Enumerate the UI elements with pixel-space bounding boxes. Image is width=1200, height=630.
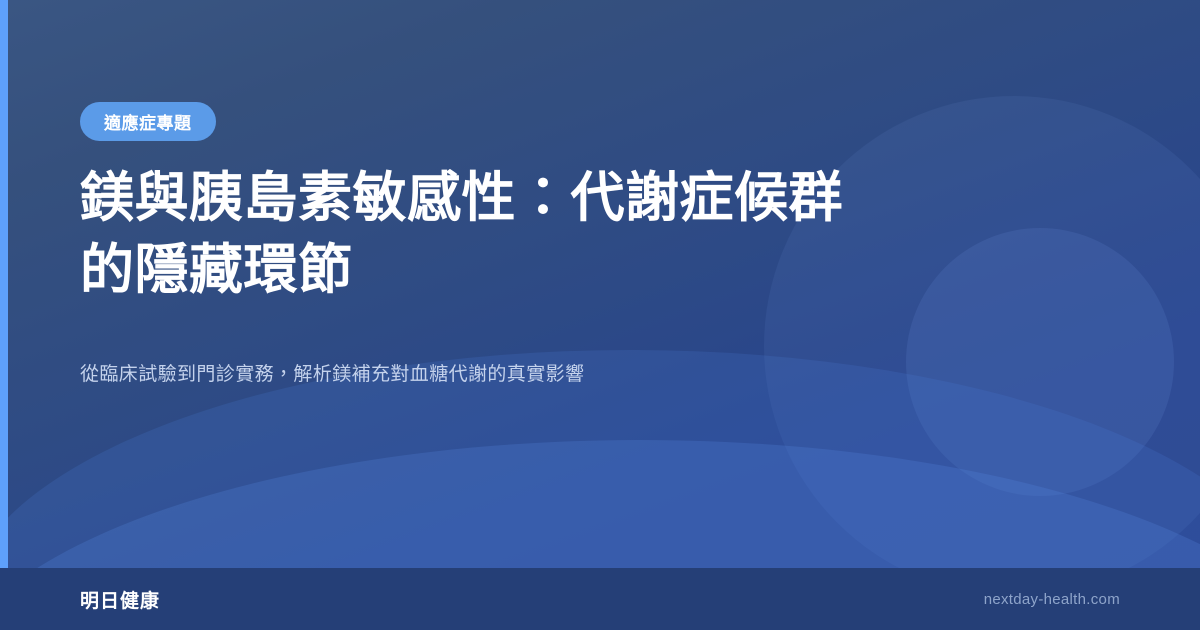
- page-subtitle: 從臨床試驗到門診實務，解析鎂補充對血糖代謝的真實影響: [80, 361, 980, 390]
- card-footer: 明日健康 nextday-health.com: [0, 568, 1200, 630]
- page-title-line-1: 鎂與胰島素敏感性：代謝症候群: [80, 162, 960, 234]
- article-cover-card: 適應症專題 鎂與胰島素敏感性：代謝症候群 的隱藏環節 從臨床試驗到門診實務，解析…: [0, 0, 1200, 630]
- page-title-line-2: 的隱藏環節: [80, 234, 960, 306]
- category-badge[interactable]: 適應症專題: [80, 102, 216, 141]
- page-title: 鎂與胰島素敏感性：代謝症候群 的隱藏環節: [80, 162, 960, 307]
- brand-name: 明日健康: [80, 586, 160, 613]
- site-url: nextday-health.com: [984, 591, 1120, 608]
- card-content: 適應症專題 鎂與胰島素敏感性：代謝症候群 的隱藏環節 從臨床試驗到門診實務，解析…: [0, 0, 1200, 568]
